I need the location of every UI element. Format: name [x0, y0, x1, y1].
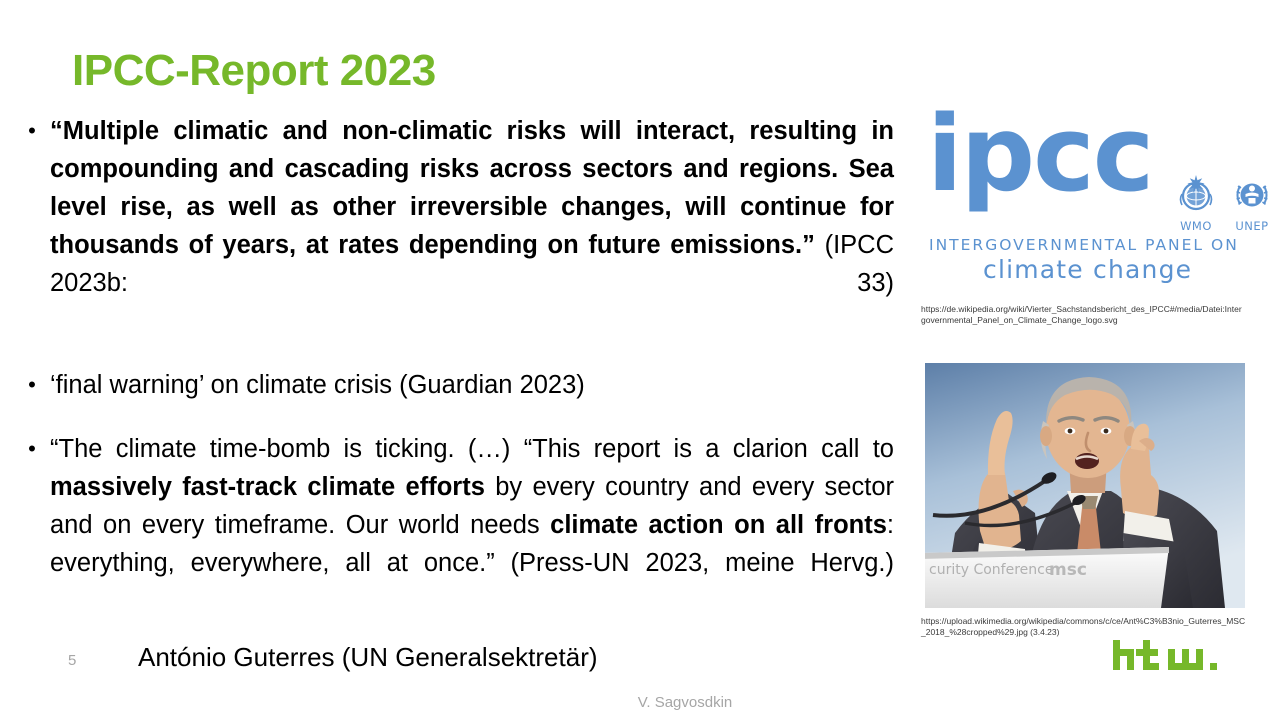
- bullet-item-1: • “Multiple climatic and non-climatic ri…: [14, 112, 894, 340]
- guterres-quote-emphasis-1: massively fast-track climate efforts: [50, 473, 485, 501]
- ipcc-wordmark-text: ipcc: [927, 102, 1152, 206]
- ipcc-subtitle-line-2: climate change: [983, 255, 1192, 284]
- unep-laurel-seal-icon: [1229, 172, 1275, 218]
- guterres-photo: curity Conference msc: [925, 363, 1245, 608]
- wmo-globe-seal-icon: [1173, 172, 1219, 218]
- ipcc-subtitle-line-1: INTERGOVERNMENTAL PANEL ON: [929, 236, 1239, 254]
- bullet-text-2: ‘final warning’ on climate crisis (Guard…: [50, 366, 894, 404]
- podium-conference-text: curity Conference: [929, 562, 1053, 578]
- guterres-quote-emphasis-2: climate action on all fronts: [550, 511, 887, 539]
- bullet-text-3: “The climate time-bomb is ticking. (…) “…: [50, 430, 894, 620]
- footer-author: V. Sagvosdkin: [0, 694, 1280, 711]
- podium-msc-mark: msc: [1049, 560, 1087, 580]
- unep-seal: UNEP: [1229, 172, 1275, 233]
- guterres-photo-illustration: curity Conference msc: [925, 363, 1245, 608]
- guterres-quote-part-1: “The climate time-bomb is ticking. (…) “…: [50, 435, 894, 463]
- ipcc-quote-text: “Multiple climatic and non-climatic risk…: [50, 117, 894, 259]
- wmo-seal: WMO: [1173, 172, 1219, 233]
- speaker-attribution: António Guterres (UN Generalsektretär): [138, 638, 598, 676]
- page-number: 5: [68, 652, 76, 669]
- htw-logo: [1113, 640, 1238, 674]
- slide-body: • “Multiple climatic and non-climatic ri…: [14, 112, 894, 638]
- bullet-marker: •: [14, 430, 50, 468]
- photo-source-caption: https://upload.wikimedia.org/wikipedia/c…: [921, 616, 1246, 638]
- ipcc-logo-source-caption: https://de.wikipedia.org/wiki/Vierter_Sa…: [921, 304, 1246, 326]
- wmo-seal-label: WMO: [1173, 219, 1219, 233]
- partner-org-seals: WMO UNEP: [1173, 172, 1275, 233]
- page-title: IPCC-Report 2023: [72, 48, 436, 94]
- unep-seal-label: UNEP: [1229, 219, 1275, 233]
- ipcc-logo: ipcc INTERGOVERNMENTAL PANEL ON climate …: [925, 100, 1255, 290]
- bullet-marker: •: [14, 366, 50, 404]
- bullet-marker: •: [14, 112, 50, 150]
- bullet-item-2: • ‘final warning’ on climate crisis (Gua…: [14, 366, 894, 404]
- htw-logo-icon: [1113, 640, 1238, 674]
- bullet-text-1: “Multiple climatic and non-climatic risk…: [50, 112, 894, 340]
- bullet-item-3: • “The climate time-bomb is ticking. (…)…: [14, 430, 894, 620]
